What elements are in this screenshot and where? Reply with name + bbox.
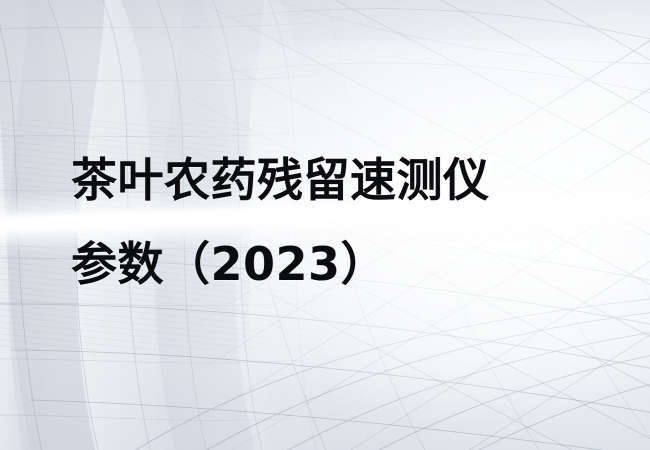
title-line-1: 茶叶农药残留速测仪 — [71, 138, 631, 222]
banner-title: 茶叶农药残留速测仪 参数（2023） — [71, 138, 631, 306]
title-banner: 茶叶农药残留速测仪 参数（2023） — [0, 0, 650, 450]
title-line-2: 参数（2023） — [71, 222, 631, 306]
